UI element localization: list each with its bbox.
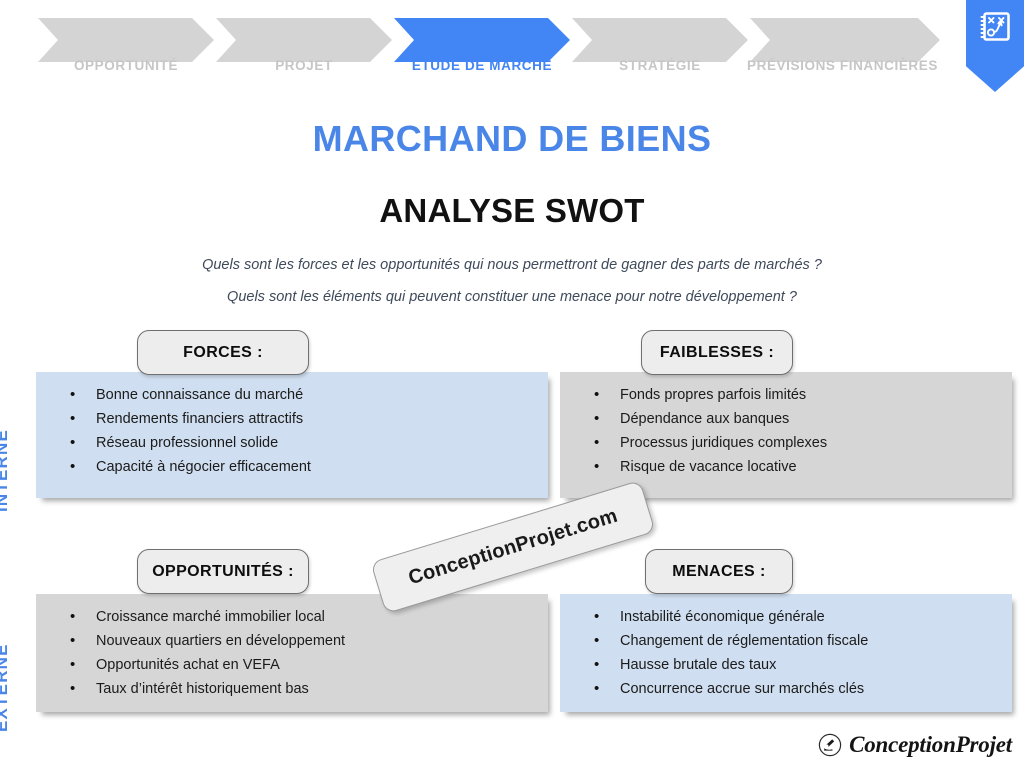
step-label-strategie: STRATÉGIE bbox=[572, 58, 748, 73]
list-item-label: Changement de réglementation fiscale bbox=[620, 630, 868, 653]
bullet-icon: • bbox=[594, 677, 620, 700]
step-chevron-projet[interactable] bbox=[216, 18, 392, 62]
bullet-icon: • bbox=[70, 383, 96, 406]
faiblesses-list: • Fonds propres parfois limités • Dépend… bbox=[560, 372, 1012, 479]
bullet-icon: • bbox=[594, 455, 620, 478]
bullet-icon: • bbox=[70, 653, 96, 676]
bullet-icon: • bbox=[594, 653, 620, 676]
bullet-icon: • bbox=[594, 431, 620, 454]
page-title: MARCHAND DE BIENS bbox=[0, 118, 1024, 160]
circle-pen-icon bbox=[818, 733, 842, 757]
step-label-opportunite: OPPORTUNITÉ bbox=[38, 58, 214, 73]
list-item-label: Risque de vacance locative bbox=[620, 456, 797, 479]
list-item-label: Instabilité économique générale bbox=[620, 606, 825, 629]
list-item: • Instabilité économique générale bbox=[560, 605, 1012, 629]
opportunites-list: • Croissance marché immobilier local • N… bbox=[36, 594, 548, 701]
list-item-label: Taux d’intérêt historiquement bas bbox=[96, 678, 309, 701]
list-item: • Processus juridiques complexes bbox=[560, 431, 1012, 455]
list-item: • Changement de réglementation fiscale bbox=[560, 629, 1012, 653]
bullet-icon: • bbox=[594, 383, 620, 406]
list-item: • Hausse brutale des taux bbox=[560, 653, 1012, 677]
list-item-label: Capacité à négocier efficacement bbox=[96, 456, 311, 479]
list-item-label: Fonds propres parfois limités bbox=[620, 384, 806, 407]
list-item-label: Réseau professionnel solide bbox=[96, 432, 278, 455]
bullet-icon: • bbox=[70, 455, 96, 478]
list-item: • Croissance marché immobilier local bbox=[36, 605, 548, 629]
list-item: • Réseau professionnel solide bbox=[36, 431, 548, 455]
page-subtitle: ANALYSE SWOT bbox=[0, 192, 1024, 230]
bullet-icon: • bbox=[70, 431, 96, 454]
list-item: • Opportunités achat en VEFA bbox=[36, 653, 548, 677]
bullet-icon: • bbox=[594, 407, 620, 430]
bullet-icon: • bbox=[70, 605, 96, 628]
list-item: • Bonne connaissance du marché bbox=[36, 383, 548, 407]
forces-list: • Bonne connaissance du marché • Rendeme… bbox=[36, 372, 548, 479]
step-label-previsions-financieres: PRÉVISIONS FINANCIÈRES bbox=[740, 58, 945, 73]
bullet-icon: • bbox=[594, 605, 620, 628]
list-item-label: Dépendance aux banques bbox=[620, 408, 789, 431]
list-item: • Nouveaux quartiers en développement bbox=[36, 629, 548, 653]
quadrant-panel-opportunites: • Croissance marché immobilier local • N… bbox=[36, 594, 548, 712]
bullet-icon: • bbox=[70, 407, 96, 430]
quadrant-panel-faiblesses: • Fonds propres parfois limités • Dépend… bbox=[560, 372, 1012, 498]
list-item-label: Hausse brutale des taux bbox=[620, 654, 776, 677]
axis-label-interne: INTERNE bbox=[0, 429, 12, 512]
quadrant-panel-forces: • Bonne connaissance du marché • Rendeme… bbox=[36, 372, 548, 498]
quadrant-header-opportunites: OPPORTUNITÉS : bbox=[137, 549, 309, 594]
list-item: • Concurrence accrue sur marchés clés bbox=[560, 677, 1012, 701]
list-item-label: Processus juridiques complexes bbox=[620, 432, 827, 455]
strategy-board-icon bbox=[979, 11, 1011, 45]
guiding-question-1: Quels sont les forces et les opportunité… bbox=[0, 257, 1024, 273]
step-label-etude-de-marche: ÉTUDE DE MARCHÉ bbox=[394, 58, 570, 73]
step-chevron-opportunite[interactable] bbox=[38, 18, 214, 62]
quadrant-header-faiblesses: FAIBLESSES : bbox=[641, 330, 793, 375]
menaces-list: • Instabilité économique générale • Chan… bbox=[560, 594, 1012, 701]
list-item-label: Concurrence accrue sur marchés clés bbox=[620, 678, 864, 701]
list-item-label: Opportunités achat en VEFA bbox=[96, 654, 280, 677]
list-item-label: Rendements financiers attractifs bbox=[96, 408, 303, 431]
bullet-icon: • bbox=[594, 629, 620, 652]
bullet-icon: • bbox=[70, 677, 96, 700]
axis-label-externe: EXTERNE bbox=[0, 643, 12, 732]
list-item: • Risque de vacance locative bbox=[560, 455, 1012, 479]
step-chevron-etude-de-marche[interactable] bbox=[394, 18, 570, 62]
list-item: • Capacité à négocier efficacement bbox=[36, 455, 548, 479]
quadrant-header-forces: FORCES : bbox=[137, 330, 309, 375]
step-chevron-strategie[interactable] bbox=[572, 18, 748, 62]
step-label-projet: PROJET bbox=[216, 58, 392, 73]
list-item: • Dépendance aux banques bbox=[560, 407, 1012, 431]
quadrant-header-menaces: MENACES : bbox=[645, 549, 793, 594]
step-chevron-previsions-financieres[interactable] bbox=[750, 18, 940, 62]
process-step-bar: OPPORTUNITÉ PROJET ÉTUDE DE MARCHÉ STRAT… bbox=[0, 0, 1024, 100]
list-item-label: Nouveaux quartiers en développement bbox=[96, 630, 345, 653]
footer-logo-label: ConceptionProjet bbox=[849, 732, 1012, 758]
list-item: • Fonds propres parfois limités bbox=[560, 383, 1012, 407]
list-item: • Taux d’intérêt historiquement bas bbox=[36, 677, 548, 701]
list-item-label: Bonne connaissance du marché bbox=[96, 384, 303, 407]
list-item: • Rendements financiers attractifs bbox=[36, 407, 548, 431]
list-item-label: Croissance marché immobilier local bbox=[96, 606, 325, 629]
guiding-question-2: Quels sont les éléments qui peuvent cons… bbox=[0, 289, 1024, 305]
swot-slide: OPPORTUNITÉ PROJET ÉTUDE DE MARCHÉ STRAT… bbox=[0, 0, 1024, 768]
bullet-icon: • bbox=[70, 629, 96, 652]
footer-logo[interactable]: ConceptionProjet bbox=[818, 732, 1012, 758]
quadrant-panel-menaces: • Instabilité économique générale • Chan… bbox=[560, 594, 1012, 712]
